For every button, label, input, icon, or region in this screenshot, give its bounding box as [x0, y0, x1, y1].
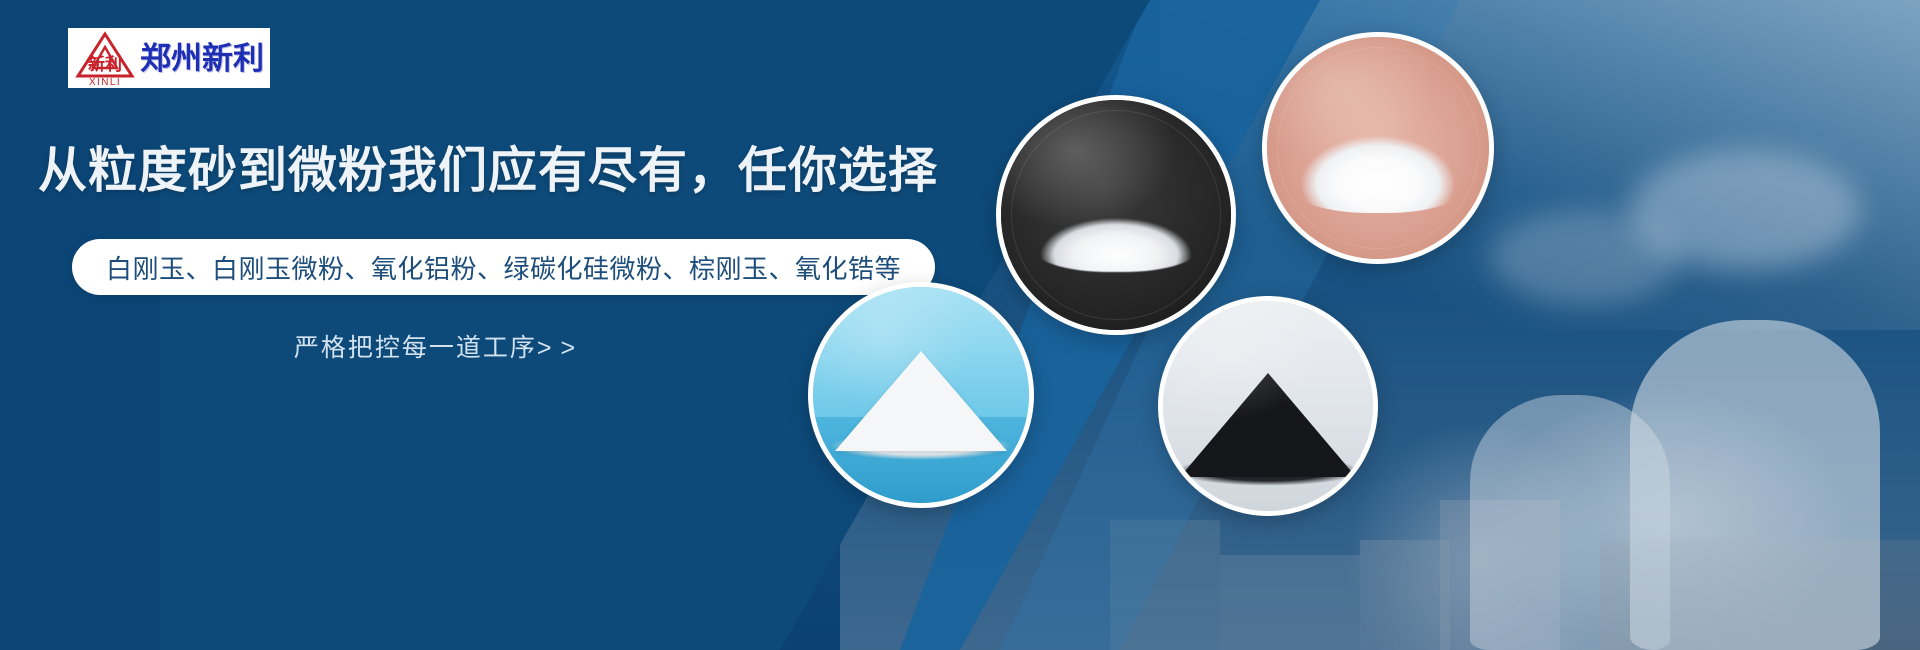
product-image-black-grit-cone[interactable]: [1158, 296, 1378, 516]
logo-wordmark: 郑州新利: [140, 43, 264, 74]
tagline-arrows: > >: [537, 334, 576, 362]
promo-banner: 新利 XINLI 郑州新利 从粒度砂到微粉我们应有尽有，任你选择 白刚玉、白刚玉…: [0, 0, 1920, 650]
svg-text:新利: 新利: [88, 54, 122, 75]
material-heap: [835, 351, 1007, 451]
smoke-plume-icon: [1490, 210, 1680, 305]
tagline-text: 严格把控每一道工序: [294, 334, 537, 362]
building-shape: [1220, 555, 1360, 650]
left-edge-shade: [0, 0, 160, 650]
xinli-triangle-icon: 新利 XINLI: [74, 30, 136, 86]
cooling-tower-icon: [1630, 320, 1880, 650]
page-title: 从粒度砂到微粉我们应有尽有，任你选择: [38, 144, 1038, 199]
product-image-white-micro-powder[interactable]: [1262, 32, 1494, 264]
material-heap: [1180, 373, 1356, 477]
company-logo[interactable]: 新利 XINLI 郑州新利: [68, 28, 270, 88]
svg-text:XINLI: XINLI: [89, 77, 121, 86]
product-image-white-granule-sand[interactable]: [996, 95, 1236, 335]
tagline[interactable]: 严格把控每一道工序> >: [70, 328, 800, 364]
product-list-pill: 白刚玉、白刚玉微粉、氧化铝粉、绿碳化硅微粉、棕刚玉、氧化锆等: [72, 239, 935, 295]
building-shape: [1360, 540, 1450, 650]
product-list-text: 白刚玉、白刚玉微粉、氧化铝粉、绿碳化硅微粉、棕刚玉、氧化锆等: [106, 249, 901, 286]
product-image-white-powder-cone[interactable]: [808, 282, 1034, 508]
